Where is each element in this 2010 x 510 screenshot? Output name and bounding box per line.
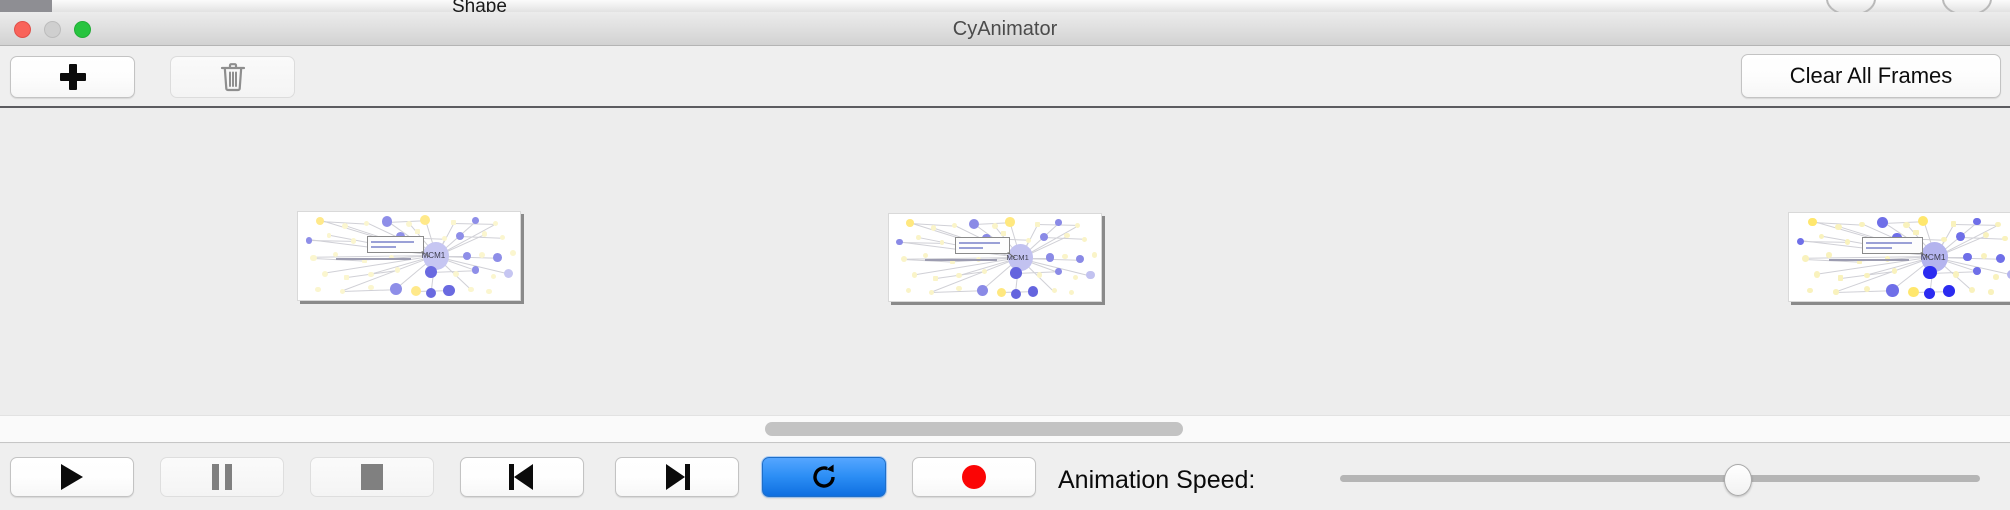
network-node — [1924, 288, 1935, 299]
network-node — [1973, 218, 1980, 225]
network-node — [390, 283, 402, 295]
background-window-strip: Shape — [0, 0, 2010, 12]
loop-button[interactable] — [762, 457, 886, 497]
network-node — [468, 287, 474, 293]
network-node — [1028, 286, 1039, 297]
pause-button[interactable] — [160, 457, 284, 497]
network-node — [310, 255, 316, 261]
frame-thumbnail[interactable]: MCM1 — [1788, 212, 2010, 302]
network-node — [1969, 287, 1975, 293]
animation-speed-slider[interactable] — [1340, 475, 1980, 482]
playback-controls-bar: Animation Speed: — [0, 444, 2010, 510]
horizontal-scrollbar[interactable] — [0, 415, 2010, 443]
network-node — [1996, 254, 2005, 263]
network-caption-text — [1829, 259, 1909, 261]
network-node — [956, 273, 961, 278]
network-node — [1877, 217, 1888, 228]
network-node — [351, 238, 356, 243]
network-node — [1864, 273, 1870, 279]
network-node — [997, 288, 1007, 298]
network-node — [368, 272, 374, 278]
network-annotation-box — [367, 236, 425, 253]
network-node — [364, 221, 369, 226]
network-node — [1864, 286, 1870, 292]
network-node — [1035, 222, 1040, 227]
network-node — [463, 252, 471, 260]
network-node — [493, 221, 498, 226]
network-node — [906, 288, 911, 293]
network-node — [1040, 233, 1048, 241]
network-node — [969, 219, 979, 229]
network-thumbnail-3: MCM1 — [1789, 213, 2010, 301]
maximize-button[interactable] — [74, 21, 91, 38]
network-node — [1005, 217, 1015, 227]
pause-icon — [212, 464, 232, 490]
network-node — [1046, 253, 1054, 261]
network-node — [1941, 237, 1947, 243]
network-node — [952, 223, 957, 228]
close-button[interactable] — [14, 21, 31, 38]
play-button[interactable] — [10, 457, 134, 497]
network-node — [1953, 271, 1959, 277]
network-node — [482, 231, 488, 237]
network-node — [1092, 252, 1098, 258]
network-node — [1055, 268, 1062, 275]
network-node — [1923, 266, 1936, 279]
network-node — [1808, 218, 1816, 226]
network-node — [1010, 267, 1022, 279]
network-node — [1055, 219, 1061, 225]
network-node — [1956, 232, 1965, 241]
network-node — [316, 217, 324, 225]
network-node — [415, 229, 420, 234]
network-node — [896, 239, 902, 245]
network-node — [1988, 289, 1994, 295]
network-node — [1086, 271, 1095, 280]
network-node — [1859, 222, 1865, 228]
animation-speed-slider-thumb[interactable] — [1724, 464, 1752, 496]
network-node — [1973, 267, 1981, 275]
network-node — [1075, 223, 1080, 228]
clear-all-frames-button[interactable]: Clear All Frames — [1741, 54, 2001, 98]
network-node — [491, 274, 496, 279]
network-node — [340, 289, 345, 294]
network-node — [493, 253, 502, 262]
network-node — [443, 285, 454, 296]
network-node — [1001, 231, 1006, 236]
network-node — [923, 253, 928, 258]
network-node — [322, 271, 328, 277]
trash-icon — [220, 62, 246, 92]
network-node — [456, 232, 464, 240]
network-node — [1073, 275, 1078, 280]
network-node — [382, 216, 392, 226]
frame-toolbar: Clear All Frames — [0, 46, 2010, 108]
network-node — [1076, 255, 1084, 263]
network-node — [1819, 234, 1824, 239]
network-node — [916, 235, 921, 240]
add-frame-button[interactable] — [10, 56, 135, 98]
network-node — [940, 240, 945, 245]
network-node — [1807, 288, 1813, 294]
network-node — [912, 272, 918, 278]
skip-backward-icon — [509, 464, 535, 490]
network-node — [1826, 252, 1832, 258]
record-icon — [962, 465, 986, 489]
network-node — [315, 287, 320, 292]
network-thumbnail-1: MCM1 — [298, 212, 520, 300]
network-node — [342, 223, 348, 229]
network-node — [395, 267, 400, 272]
network-node — [1892, 268, 1898, 274]
network-thumbnail-2: MCM1 — [889, 214, 1101, 301]
network-node — [1913, 230, 1919, 236]
network-node — [425, 266, 437, 278]
network-node — [1838, 275, 1844, 281]
network-edge — [931, 291, 982, 294]
network-node — [1069, 290, 1074, 295]
cyanimator-window: Shape CyAnimator Clear All Frames — [0, 0, 2010, 510]
network-node — [327, 233, 332, 238]
network-node — [1943, 285, 1955, 297]
network-node — [442, 236, 447, 241]
network-node — [1993, 274, 1999, 280]
network-node — [1951, 221, 1957, 227]
network-node — [1814, 271, 1820, 277]
network-node — [931, 225, 937, 231]
loop-icon — [809, 462, 839, 492]
network-node — [453, 271, 459, 277]
network-node — [500, 235, 505, 240]
network-node — [1833, 289, 1839, 295]
network-caption-text — [925, 259, 997, 261]
network-edge — [900, 242, 942, 244]
animation-speed-label: Animation Speed: — [1058, 466, 1255, 495]
delete-frame-button[interactable] — [170, 56, 295, 98]
network-node — [504, 269, 513, 278]
network-node — [933, 276, 938, 281]
plus-icon — [60, 64, 86, 90]
minimize-button[interactable] — [44, 21, 61, 38]
network-node — [1011, 289, 1021, 299]
stop-icon — [361, 464, 383, 490]
network-node — [1983, 232, 1989, 238]
network-node — [1052, 288, 1057, 293]
clear-all-frames-label: Clear All Frames — [1790, 63, 1953, 89]
network-node — [977, 285, 988, 296]
stop-button[interactable] — [310, 457, 434, 497]
network-node — [992, 223, 998, 229]
network-node — [1082, 237, 1087, 242]
network-node — [426, 288, 436, 298]
network-node — [344, 275, 349, 280]
network-node — [1037, 272, 1043, 278]
network-node — [1845, 239, 1851, 245]
network-node — [1886, 284, 1899, 297]
network-node — [982, 269, 987, 274]
title-bar: CyAnimator — [0, 12, 2010, 46]
network-node — [510, 250, 516, 256]
network-node — [1026, 238, 1031, 243]
play-icon — [61, 464, 83, 490]
network-node — [901, 256, 907, 262]
network-node — [451, 220, 457, 226]
network-node — [2002, 236, 2008, 242]
network-node — [1918, 216, 1929, 227]
scrollbar-thumb[interactable] — [765, 422, 1183, 436]
network-node — [486, 289, 491, 294]
window-title: CyAnimator — [0, 12, 2010, 46]
network-node — [1995, 222, 2001, 228]
record-button[interactable] — [912, 457, 1036, 497]
previous-frame-button[interactable] — [460, 457, 584, 497]
timeline-panel[interactable]: MCM1 MCM1 MCM1 12131415161718 Seconds — [0, 110, 2010, 415]
next-frame-button[interactable] — [615, 457, 739, 497]
network-node — [306, 237, 313, 244]
frame-thumbnail[interactable]: MCM1 — [297, 211, 521, 301]
network-node — [1835, 224, 1841, 230]
network-annotation-box — [1862, 237, 1923, 254]
background-window-label: Shape — [452, 0, 507, 12]
frame-thumbnail[interactable]: MCM1 — [888, 213, 1102, 302]
network-node — [1963, 253, 1972, 262]
network-node — [1802, 255, 1809, 262]
network-node — [420, 215, 430, 225]
network-node — [906, 219, 914, 227]
network-node — [472, 266, 479, 273]
network-node — [1797, 238, 1804, 245]
network-annotation-box — [955, 237, 1010, 254]
network-node — [929, 290, 934, 295]
network-node — [1908, 287, 1919, 298]
network-node — [411, 286, 421, 296]
skip-forward-icon — [664, 464, 690, 490]
network-caption-text — [336, 258, 411, 260]
